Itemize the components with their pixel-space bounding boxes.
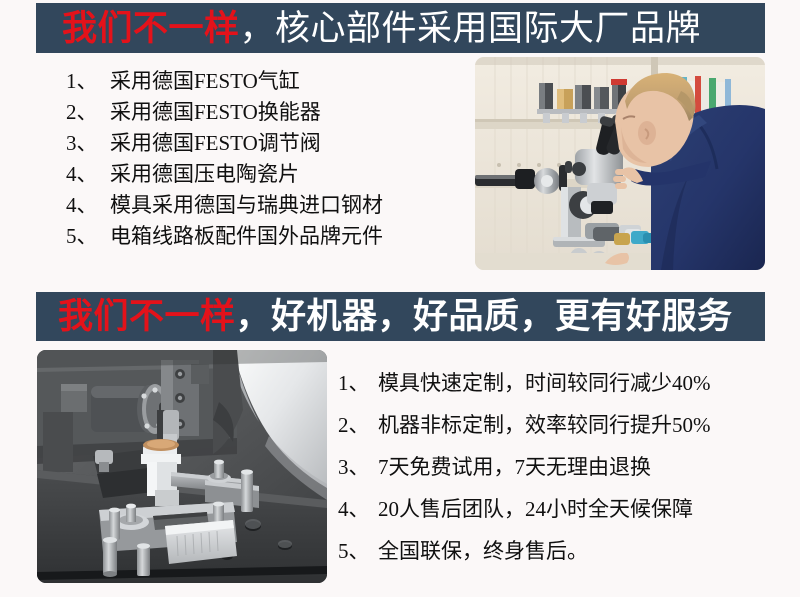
list-item-number: 1、 [66, 66, 110, 97]
section-banner-core-components: 我们不一样，核心部件采用国际大厂品牌 [36, 3, 765, 53]
list-item-text: 机器非标定制，效率较同行提升50% [378, 404, 711, 446]
banner-accent-text: 我们不一样 [58, 297, 236, 336]
list-item-text: 采用德国FESTO气缸 [110, 66, 300, 97]
feature-list-core-components: 1、 采用德国FESTO气缸 2、 采用德国FESTO换能器 3、 采用德国FE… [66, 66, 466, 252]
list-item-number: 2、 [66, 97, 110, 128]
list-item-text: 采用德国FESTO换能器 [110, 97, 321, 128]
list-item-number: 4、 [338, 488, 378, 530]
feature-list-service-quality: 1、 模具快速定制，时间较同行减少40% 2、 机器非标定制，效率较同行提升50… [338, 362, 788, 572]
banner-rest-text: ，好机器，好品质，更有好服务 [236, 297, 733, 336]
section-banner-service-quality: 我们不一样，好机器，好品质，更有好服务 [36, 292, 765, 341]
list-item: 1、 模具快速定制，时间较同行减少40% [338, 362, 788, 404]
list-item-number: 4、 [66, 159, 110, 190]
list-item-text: 模具采用德国与瑞典进口钢材 [110, 190, 383, 221]
list-item-text: 7天免费试用，7天无理由退换 [378, 446, 651, 488]
list-item-text: 电箱线路板配件国外品牌元件 [110, 221, 383, 252]
list-item: 4、 采用德国压电陶瓷片 [66, 159, 466, 190]
list-item-text: 全国联保，终身售后。 [378, 530, 588, 572]
list-item: 2、 采用德国FESTO换能器 [66, 97, 466, 128]
list-item: 5、 电箱线路板配件国外品牌元件 [66, 221, 466, 252]
banner-accent-text: 我们不一样 [62, 9, 240, 48]
list-item-number: 1、 [338, 362, 378, 404]
list-item: 4、 20人售后团队，24小时全天候保障 [338, 488, 788, 530]
list-item-text: 采用德国压电陶瓷片 [110, 159, 299, 190]
list-item-number: 2、 [338, 404, 378, 446]
machine-tooling-photo [37, 350, 327, 583]
list-item-number: 3、 [66, 128, 110, 159]
microscope-inspection-photo [475, 57, 765, 270]
list-item: 2、 机器非标定制，效率较同行提升50% [338, 404, 788, 446]
promo-page: 我们不一样，核心部件采用国际大厂品牌 1、 采用德国FESTO气缸 2、 采用德… [0, 0, 800, 597]
list-item-text: 20人售后团队，24小时全天候保障 [378, 488, 693, 530]
banner-text: 我们不一样，核心部件采用国际大厂品牌 [62, 11, 701, 46]
list-item: 1、 采用德国FESTO气缸 [66, 66, 466, 97]
banner-text: 我们不一样，好机器，好品质，更有好服务 [58, 299, 733, 334]
list-item-number: 4、 [66, 190, 110, 221]
list-item-text: 采用德国FESTO调节阀 [110, 128, 321, 159]
list-item: 4、 模具采用德国与瑞典进口钢材 [66, 190, 466, 221]
list-item: 3、 采用德国FESTO调节阀 [66, 128, 466, 159]
list-item: 5、 全国联保，终身售后。 [338, 530, 788, 572]
list-item-text: 模具快速定制，时间较同行减少40% [378, 362, 711, 404]
banner-rest-text: ，核心部件采用国际大厂品牌 [240, 9, 702, 48]
list-item-number: 3、 [338, 446, 378, 488]
list-item: 3、 7天免费试用，7天无理由退换 [338, 446, 788, 488]
list-item-number: 5、 [338, 530, 378, 572]
list-item-number: 5、 [66, 221, 110, 252]
